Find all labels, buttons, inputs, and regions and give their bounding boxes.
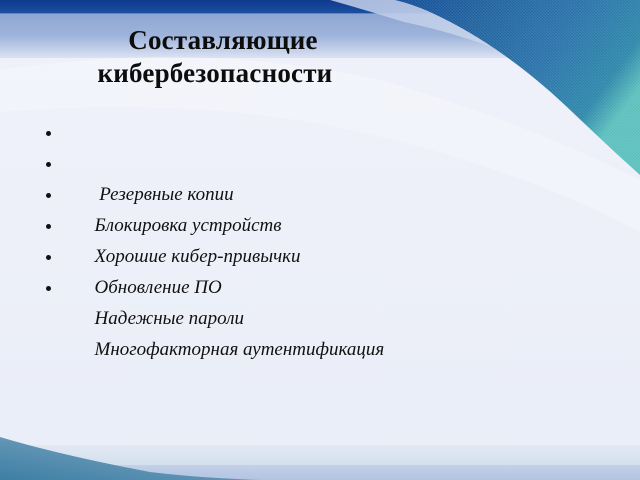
footer-band-light (0, 445, 640, 465)
corner-swoosh-texture (395, 0, 640, 175)
slide-canvas: Составляющие кибербезопасности Резервные… (0, 0, 640, 480)
list-item: Блокировка устройств (44, 148, 384, 179)
list-item: Надежные пароли (44, 241, 384, 272)
footer-band-mid (0, 465, 640, 480)
list-item: Резервные копии (44, 117, 384, 148)
list-item-label: Надежные пароли (95, 308, 245, 329)
page-title-line-1: Составляющие (0, 24, 430, 57)
list-item-label: Многофакторная аутентификация (95, 339, 385, 360)
list-item: Многофакторная аутентификация (44, 272, 384, 303)
page-title: Составляющие кибербезопасности (0, 24, 430, 90)
bullet-icon (46, 224, 51, 229)
bullet-list: Резервные копии Блокировка устройств Хор… (44, 117, 384, 303)
bullet-icon (46, 255, 51, 260)
bullet-icon (46, 131, 51, 136)
bullet-icon (46, 286, 51, 291)
bullet-icon (46, 162, 51, 167)
list-item: Хорошие кибер-привычки (44, 179, 384, 210)
bullet-icon (46, 193, 51, 198)
list-item: Обновление ПО (44, 210, 384, 241)
corner-swoosh (395, 0, 640, 175)
page-title-line-2: кибербезопасности (0, 57, 430, 90)
footer-corner-curve (0, 437, 260, 480)
